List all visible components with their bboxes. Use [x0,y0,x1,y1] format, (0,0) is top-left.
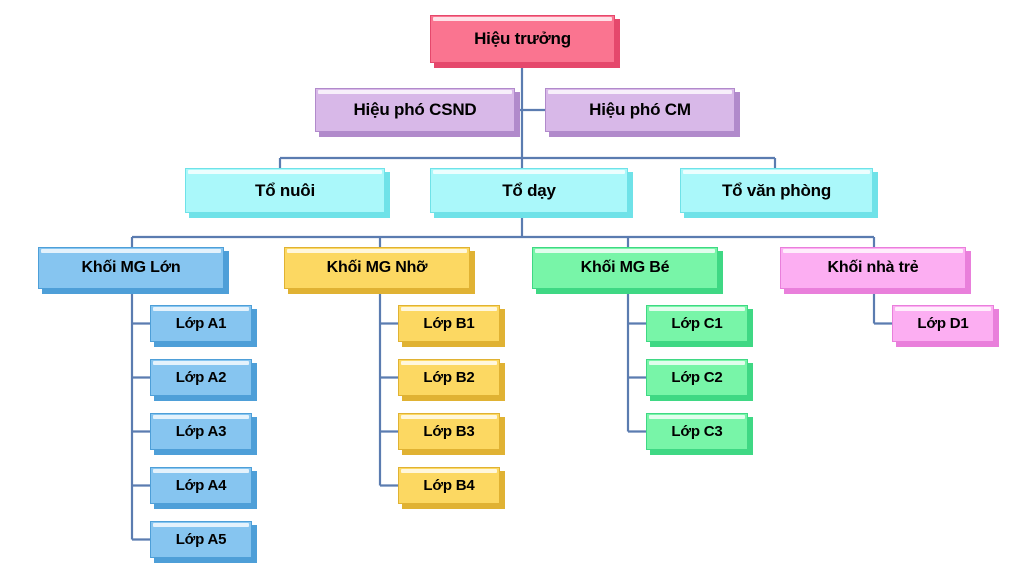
node-root-shadow-bottom [434,63,620,68]
node-group-mg-lon-shadow-bottom [42,289,229,294]
node-group-nha-tre-shadow-bottom [784,289,971,294]
node-class-a2[interactable]: Lớp A2 [150,359,252,396]
node-class-a3-label: Lớp A3 [170,423,233,440]
node-class-c1-highlight [649,307,745,311]
node-group-nha-tre-label: Khối nhà trẻ [822,259,925,277]
node-vice-cm-highlight [548,90,732,94]
node-team-day-shadow-right [628,172,633,218]
node-class-b3-label: Lớp B3 [417,423,480,440]
node-class-d1-label: Lớp D1 [911,315,974,332]
node-class-a5-highlight [153,523,249,527]
node-team-vanphong-shadow-bottom [684,213,878,218]
node-class-c3-highlight [649,415,745,419]
node-class-b1[interactable]: Lớp B1 [398,305,500,342]
node-team-nuoi-highlight [188,170,382,174]
node-group-nha-tre[interactable]: Khối nhà trẻ [780,247,966,289]
node-class-a1-label: Lớp A1 [170,315,233,332]
node-class-a4-shadow-bottom [154,504,257,509]
node-class-c2-shadow-bottom [650,396,753,401]
node-class-c3-shadow-bottom [650,450,753,455]
node-team-vanphong-label: Tổ văn phòng [716,181,837,201]
node-vice-csnd-shadow-bottom [319,132,520,137]
node-group-mg-lon-shadow-right [224,251,229,294]
node-team-day-label: Tổ dạy [496,181,562,201]
node-class-c2-highlight [649,361,745,365]
node-vice-csnd-shadow-right [515,92,520,137]
node-class-d1-highlight [895,307,991,311]
node-team-nuoi-label: Tổ nuôi [249,181,321,201]
node-class-a1-highlight [153,307,249,311]
node-class-b3-highlight [401,415,497,419]
node-class-b4-label: Lớp B4 [417,477,480,494]
node-class-a4-highlight [153,469,249,473]
node-team-day-shadow-bottom [434,213,633,218]
node-group-mg-be-shadow-bottom [536,289,723,294]
node-class-a4[interactable]: Lớp A4 [150,467,252,504]
node-class-a4-label: Lớp A4 [170,477,233,494]
node-team-day[interactable]: Tổ dạy [430,168,628,213]
node-class-a3[interactable]: Lớp A3 [150,413,252,450]
node-class-a2-label: Lớp A2 [170,369,233,386]
node-class-c3-label: Lớp C3 [665,423,728,440]
node-group-mg-nho-shadow-bottom [288,289,475,294]
node-class-a5[interactable]: Lớp A5 [150,521,252,558]
node-vice-cm[interactable]: Hiệu phó CM [545,88,735,132]
node-class-b2[interactable]: Lớp B2 [398,359,500,396]
node-team-vanphong-shadow-right [873,172,878,218]
node-vice-csnd-highlight [318,90,512,94]
node-group-mg-nho-highlight [287,249,467,253]
node-class-b4-shadow-bottom [402,504,505,509]
node-class-b1-shadow-bottom [402,342,505,347]
node-class-a2-shadow-bottom [154,396,257,401]
node-group-nha-tre-shadow-right [966,251,971,294]
node-class-c3[interactable]: Lớp C3 [646,413,748,450]
node-class-c2[interactable]: Lớp C2 [646,359,748,396]
node-root[interactable]: Hiệu trưởng [430,15,615,63]
node-team-nuoi-shadow-bottom [189,213,390,218]
node-class-b2-label: Lớp B2 [417,369,480,386]
node-class-c1[interactable]: Lớp C1 [646,305,748,342]
node-team-nuoi-shadow-right [385,172,390,218]
node-group-mg-be-shadow-right [718,251,723,294]
node-root-label: Hiệu trưởng [468,29,577,49]
node-vice-csnd[interactable]: Hiệu phó CSND [315,88,515,132]
node-class-b3[interactable]: Lớp B3 [398,413,500,450]
node-class-a2-highlight [153,361,249,365]
node-group-mg-nho-label: Khối MG Nhỡ [321,259,434,277]
node-class-b1-highlight [401,307,497,311]
node-team-nuoi[interactable]: Tổ nuôi [185,168,385,213]
node-vice-csnd-label: Hiệu phó CSND [347,100,482,120]
node-class-b3-shadow-bottom [402,450,505,455]
node-class-b4[interactable]: Lớp B4 [398,467,500,504]
node-class-b4-highlight [401,469,497,473]
node-class-b2-shadow-bottom [402,396,505,401]
node-root-shadow-right [615,19,620,68]
node-group-mg-be[interactable]: Khối MG Bé [532,247,718,289]
node-class-a1[interactable]: Lớp A1 [150,305,252,342]
node-class-d1[interactable]: Lớp D1 [892,305,994,342]
node-root-highlight [433,17,612,21]
node-team-vanphong-highlight [683,170,870,174]
node-class-b1-label: Lớp B1 [417,315,480,332]
node-class-c2-label: Lớp C2 [665,369,728,386]
node-group-nha-tre-highlight [783,249,963,253]
node-class-a3-highlight [153,415,249,419]
node-class-a3-shadow-bottom [154,450,257,455]
node-class-c1-label: Lớp C1 [665,315,728,332]
node-group-mg-lon[interactable]: Khối MG Lớn [38,247,224,289]
node-vice-cm-shadow-right [735,92,740,137]
node-class-d1-shadow-bottom [896,342,999,347]
node-team-vanphong[interactable]: Tổ văn phòng [680,168,873,213]
node-class-a1-shadow-bottom [154,342,257,347]
node-group-mg-be-highlight [535,249,715,253]
node-group-mg-lon-highlight [41,249,221,253]
node-group-mg-lon-label: Khối MG Lớn [76,259,187,277]
node-class-a5-shadow-bottom [154,558,257,563]
node-group-mg-be-label: Khối MG Bé [575,259,676,277]
node-class-a5-label: Lớp A5 [170,531,233,548]
node-class-c1-shadow-bottom [650,342,753,347]
node-group-mg-nho[interactable]: Khối MG Nhỡ [284,247,470,289]
node-class-b2-highlight [401,361,497,365]
node-group-mg-nho-shadow-right [470,251,475,294]
node-vice-cm-shadow-bottom [549,132,740,137]
node-vice-cm-label: Hiệu phó CM [583,100,697,120]
org-chart-canvas: Hiệu trưởng Hiệu phó CSND Hiệu phó CM Tổ… [0,0,1024,571]
node-team-day-highlight [433,170,625,174]
